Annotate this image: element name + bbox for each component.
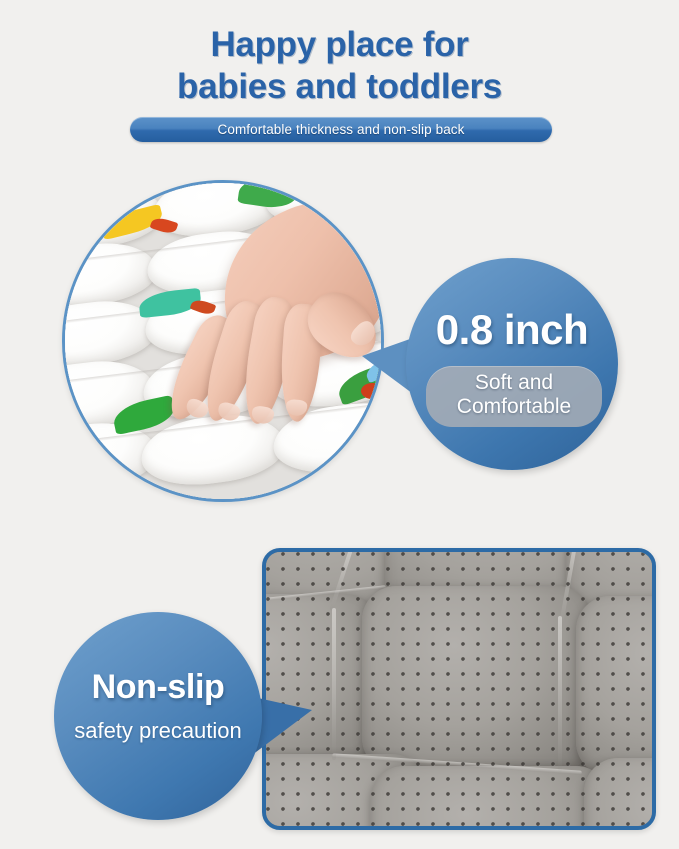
infographic-stage: Happy place for babies and toddlers Comf…: [0, 0, 679, 849]
page-title: Happy place for babies and toddlers: [0, 24, 679, 108]
nonslip-dot-texture: [266, 552, 652, 826]
thickness-pill-line-1: Soft and: [426, 371, 602, 395]
nonslip-bottom-photo: [262, 548, 656, 830]
thickness-value-label: 0.8 inch: [406, 306, 618, 354]
bubble-disc: [406, 258, 618, 470]
page-title-line-1: Happy place for: [210, 25, 468, 64]
hand-photo-element: [161, 201, 381, 445]
mattress-top-photo: [62, 180, 384, 502]
thickness-callout-bubble: 0.8 inch Soft and Comfortable: [406, 258, 618, 470]
page-title-line-2: babies and toddlers: [0, 66, 679, 108]
nonslip-callout-bubble: Non-slip safety precaution: [54, 612, 262, 820]
nonslip-title: Non-slip: [54, 668, 262, 707]
thickness-pill: Soft and Comfortable: [426, 366, 602, 427]
bubble-disc: [54, 612, 262, 820]
subtitle-banner-text: Comfortable thickness and non-slip back: [217, 122, 464, 137]
nonslip-subtitle: safety precaution: [54, 718, 262, 744]
thickness-pill-line-2: Comfortable: [426, 395, 602, 419]
mattress-top-photo-inner: [65, 183, 381, 499]
subtitle-banner: Comfortable thickness and non-slip back: [130, 117, 552, 142]
